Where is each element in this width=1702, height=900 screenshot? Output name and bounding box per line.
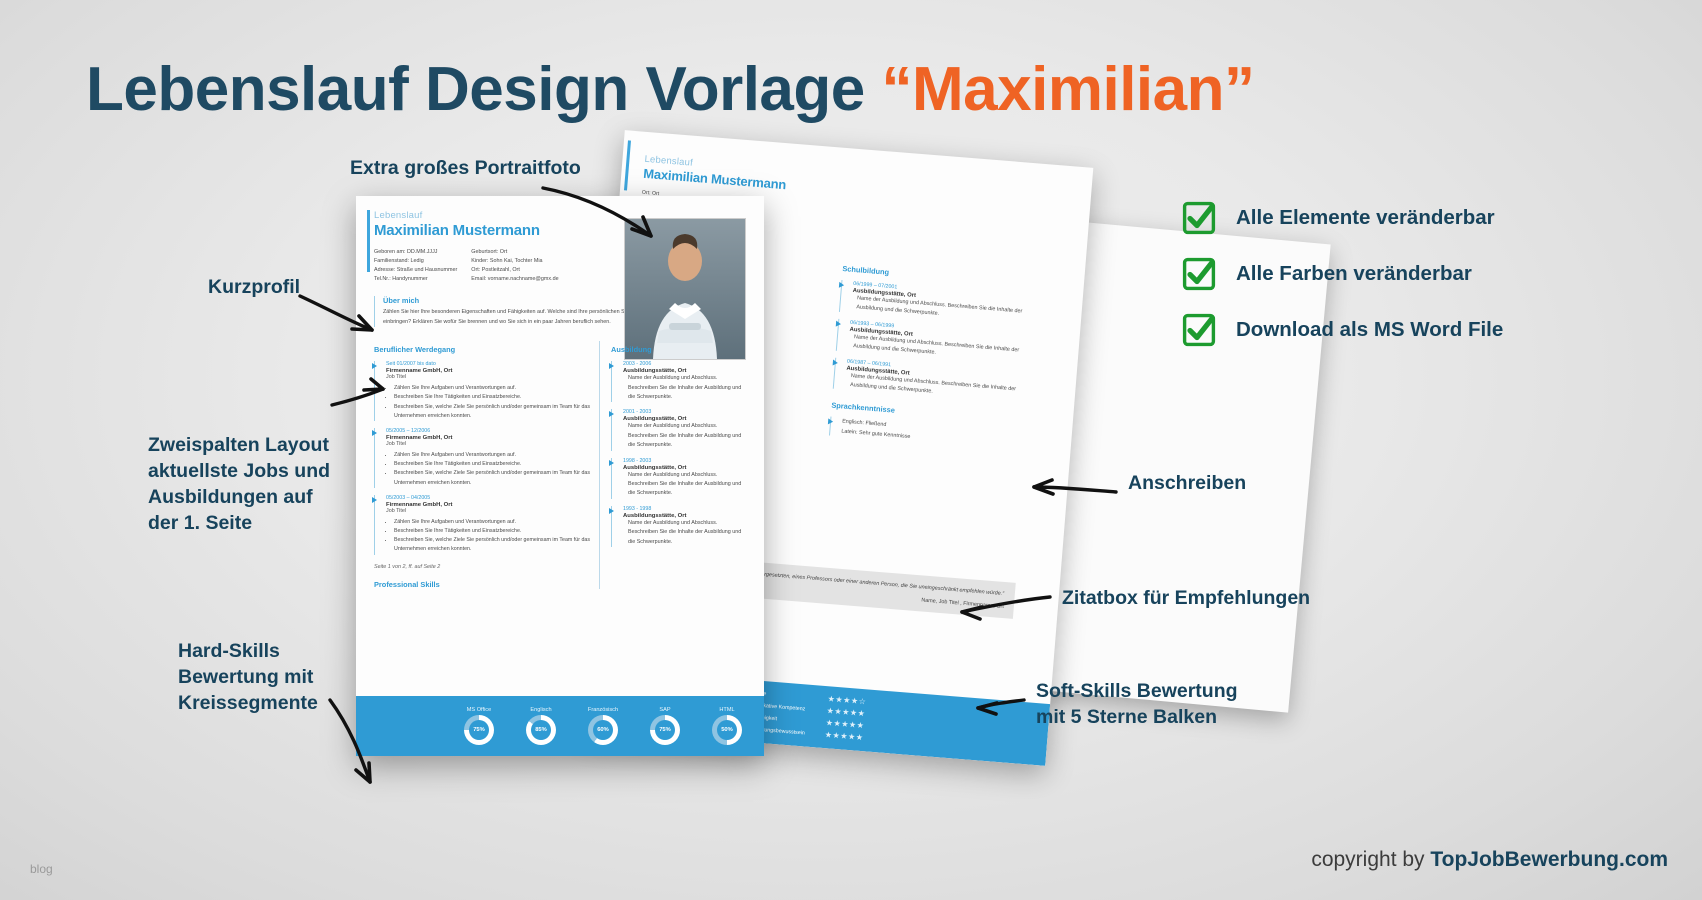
cv-career-section: Beruflicher Werdegang Seit 01/2007 bis d… xyxy=(374,341,599,588)
feature-label: Download als MS Word File xyxy=(1236,318,1503,342)
page2-languages-section: Sprachkenntnisse Englisch: Fließend Late… xyxy=(829,401,1031,452)
career-bullet: Beschreiben Sie, welche Ziele Sie persön… xyxy=(394,536,590,554)
cv-detail: Adresse: Straße und Hausnummer xyxy=(374,266,457,275)
education-item: 2001 - 2003 Ausbildungsstätte, Ort Name … xyxy=(611,409,747,450)
skill-name: SAP xyxy=(642,707,688,713)
hard-skills-bar: MS Office 75% Englisch 85% Französisch 6… xyxy=(356,696,764,756)
brand-topjob: TopJob xyxy=(1430,848,1504,871)
career-item: 05/2003 – 04/2005 Firmenname GmbH, Ort J… xyxy=(374,495,590,555)
education-date: 2003 - 2006 xyxy=(623,361,747,367)
cv-accent-bar xyxy=(367,210,370,272)
annotation-hard-skills: Hard-Skills Bewertung mit Kreissegmente xyxy=(178,638,318,716)
cv-page-note: Seite 1 von 2, ff. auf Seite 2 xyxy=(374,564,590,570)
skill-ring-icon: 75% xyxy=(464,715,494,745)
soft-skill-row: ★★★★☆ xyxy=(827,694,867,707)
annotation-anschreiben: Anschreiben xyxy=(1128,470,1246,496)
skill-ring-icon: 85% xyxy=(526,715,556,745)
cv-detail: Kinder: Sohn Kai, Tochter Mia xyxy=(471,257,558,266)
soft-skill-row: ★★★★★ xyxy=(824,730,864,743)
career-item: Seit 01/2007 bis dato Firmenname GmbH, O… xyxy=(374,361,590,421)
soft-skill-row: ★★★★★ xyxy=(825,718,865,731)
page2-school-section: Schulbildung 06/1999 – 07/2001 Ausbildun… xyxy=(829,264,1042,452)
career-jobtitle: Job Titel xyxy=(386,441,590,447)
cv-detail: Geboren am: DD.MM.JJJJ xyxy=(374,248,457,257)
education-text: Name der Ausbildung und Abschluss. Besch… xyxy=(623,519,747,547)
page2-accent-bar xyxy=(624,140,631,190)
skill-ring-icon: 50% xyxy=(712,715,742,745)
career-bullet: Zählen Sie Ihre Aufgaben und Verantwortu… xyxy=(394,451,590,460)
annotation-portrait: Extra großes Portraitfoto xyxy=(350,155,581,181)
career-bullet: Beschreiben Sie Ihre Tätigkeiten und Ein… xyxy=(394,393,590,402)
skill-percent: 75% xyxy=(473,727,485,733)
career-bullet: Zählen Sie Ihre Aufgaben und Verantwortu… xyxy=(394,384,590,393)
page-title-main: Lebenslauf Design Vorlage xyxy=(86,55,865,124)
career-item: 05/2005 – 12/2006 Firmenname GmbH, Ort J… xyxy=(374,428,590,488)
career-bullet: Beschreiben Sie, welche Ziele Sie persön… xyxy=(394,403,590,421)
checkbox-checked-icon xyxy=(1182,201,1216,235)
blog-tag: blog xyxy=(30,862,53,876)
cv-detail: Ort: Postleitzahl, Ort xyxy=(471,266,558,275)
cv-detail: Geburtsort: Ort xyxy=(471,248,558,257)
portrait-photo xyxy=(624,218,746,360)
checkbox-checked-icon xyxy=(1182,257,1216,291)
annotation-kurzprofil: Kurzprofil xyxy=(208,274,300,300)
cv-detail: Tel.Nr.: Handynummer xyxy=(374,275,457,284)
cv-skills-title: Professional Skills xyxy=(374,580,590,589)
annotation-soft-skills: Soft-Skills Bewertung mit 5 Sterne Balke… xyxy=(1036,678,1238,730)
cv-detail: Email: vorname.nachname@gmx.de xyxy=(471,275,558,284)
skill-percent: 75% xyxy=(659,727,671,733)
quote-box: „... eines Vorgesetzten, eines Professor… xyxy=(724,560,1016,619)
feature-item: Alle Elemente veränderbar xyxy=(1182,190,1682,246)
document-page-1[interactable]: Lebenslauf Maximilian Mustermann Geboren… xyxy=(356,196,764,756)
career-date: Seit 01/2007 bis dato xyxy=(386,361,590,367)
education-item: 1998 - 2003 Ausbildungsstätte, Ort Name … xyxy=(611,458,747,499)
skill-name: Englisch xyxy=(518,707,564,713)
copyright-notice: copyright by TopJobBewerbung.com xyxy=(1311,848,1668,872)
feature-label: Alle Farben veränderbar xyxy=(1236,262,1472,286)
education-text: Name der Ausbildung und Abschluss. Besch… xyxy=(623,422,747,450)
career-jobtitle: Job Titel xyxy=(386,508,590,514)
skill-percent: 60% xyxy=(597,727,609,733)
annotation-zitatbox: Zitatbox für Empfehlungen xyxy=(1062,585,1310,611)
star-rating-icon: ★★★★★ xyxy=(826,706,866,719)
skill-percent: 50% xyxy=(721,727,733,733)
skill-name: HTML xyxy=(704,707,750,713)
career-bullet: Beschreiben Sie Ihre Tätigkeiten und Ein… xyxy=(394,527,590,536)
career-date: 05/2003 – 04/2005 xyxy=(386,495,590,501)
career-date: 05/2005 – 12/2006 xyxy=(386,428,590,434)
feature-item: Download als MS Word File xyxy=(1182,302,1682,358)
cv-detail: Familienstand: Ledig xyxy=(374,257,457,266)
education-item: 1993 - 1998 Ausbildungsstätte, Ort Name … xyxy=(611,506,747,547)
cv-education-section: Ausbildung 2003 - 2006 Ausbildungsstätte… xyxy=(599,341,747,588)
skill-ring-icon: 75% xyxy=(650,715,680,745)
skill-item: Französisch 60% xyxy=(580,707,626,745)
cv-details-left: Geboren am: DD.MM.JJJJ Familienstand: Le… xyxy=(374,248,457,284)
career-bullet: Beschreiben Sie Ihre Tätigkeiten und Ein… xyxy=(394,460,590,469)
education-text: Name der Ausbildung und Abschluss. Besch… xyxy=(623,374,747,402)
cv-details-right: Geburtsort: Ort Kinder: Sohn Kai, Tochte… xyxy=(471,248,558,284)
career-bullet: Zählen Sie Ihre Aufgaben und Verantwortu… xyxy=(394,518,590,527)
skill-item: MS Office 75% xyxy=(456,707,502,745)
star-rating-icon: ★★★★★ xyxy=(825,718,865,731)
skill-item: SAP 75% xyxy=(642,707,688,745)
annotation-two-column-layout: Zweispalten Layout aktuellste Jobs und A… xyxy=(148,432,330,536)
career-jobtitle: Job Titel xyxy=(386,374,590,380)
feature-list: Alle Elemente veränderbar Alle Farben ve… xyxy=(1182,190,1682,358)
skill-item: Englisch 85% xyxy=(518,707,564,745)
skill-name: Französisch xyxy=(580,707,626,713)
page-title-accent: “Maximilian” xyxy=(882,55,1255,124)
star-rating-icon: ★★★★★ xyxy=(824,730,864,743)
education-text: Name der Ausbildung und Abschluss. Besch… xyxy=(623,471,747,499)
career-bullet: Beschreiben Sie, welche Ziele Sie persön… xyxy=(394,469,590,487)
education-date: 1993 - 1998 xyxy=(623,506,747,512)
education-date: 1998 - 2003 xyxy=(623,458,747,464)
copyright-prefix: copyright by xyxy=(1311,848,1430,871)
cv-education-title: Ausbildung xyxy=(611,345,747,354)
soft-skill-row: ★★★★★ xyxy=(826,706,866,719)
feature-item: Alle Farben veränderbar xyxy=(1182,246,1682,302)
education-item: 2003 - 2006 Ausbildungsstätte, Ort Name … xyxy=(611,361,747,402)
skill-percent: 85% xyxy=(535,727,547,733)
page2-school-item: 06/1987 – 06/1991 Ausbildungsstätte, Ort… xyxy=(833,357,1035,405)
star-rating-icon: ★★★★☆ xyxy=(827,694,867,707)
skill-item: HTML 50% xyxy=(704,707,750,745)
soft-skills-column-right: ★★★★☆ ★★★★★ ★★★★★ ★★★★★ xyxy=(824,694,866,743)
skill-ring-icon: 60% xyxy=(588,715,618,745)
education-date: 2001 - 2003 xyxy=(623,409,747,415)
feature-label: Alle Elemente veränderbar xyxy=(1236,206,1495,230)
page-title: Lebenslauf Design Vorlage “Maximilian” xyxy=(86,48,1386,132)
skill-name: MS Office xyxy=(456,707,502,713)
cv-career-title: Beruflicher Werdegang xyxy=(374,345,590,354)
brand-bewerbung: Bewerbung.com xyxy=(1505,848,1668,871)
checkbox-checked-icon xyxy=(1182,313,1216,347)
